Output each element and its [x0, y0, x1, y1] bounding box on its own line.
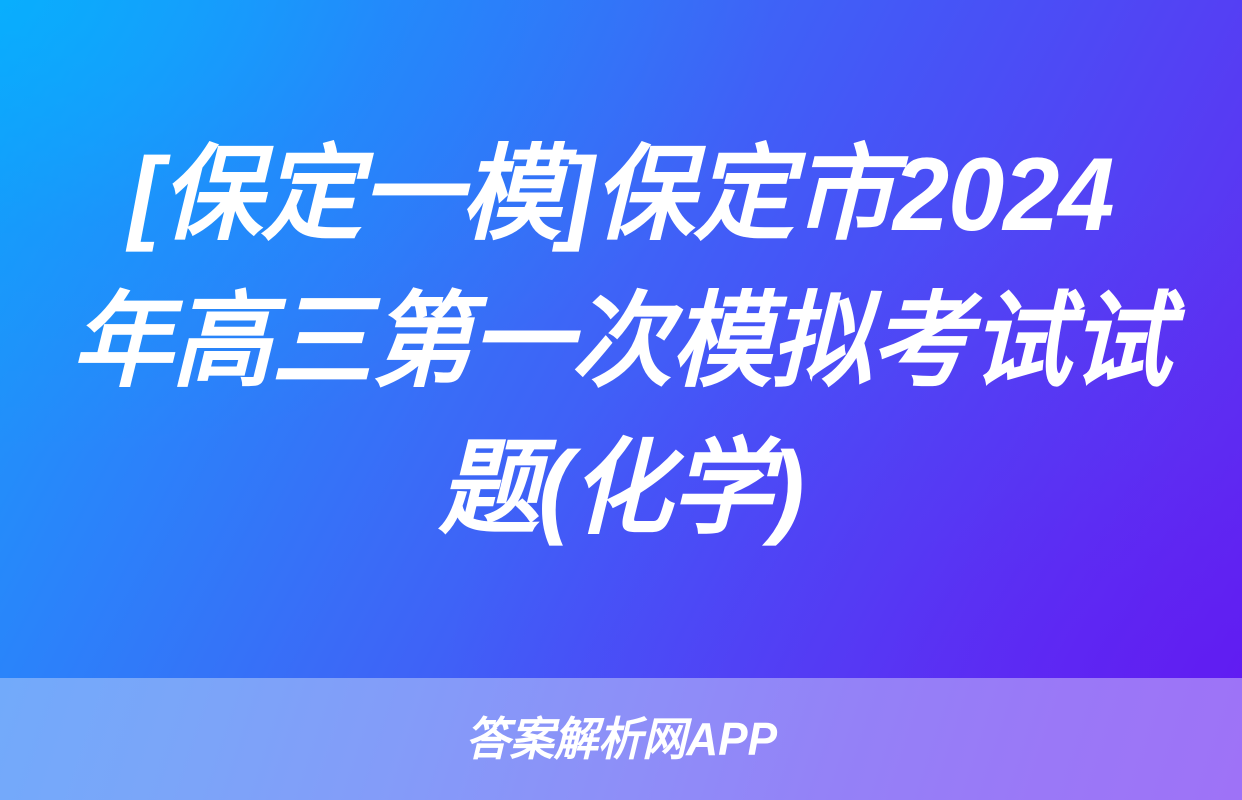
exam-title: [保定一模]保定市2024 年高三第一次模拟考试试 题(化学): [41, 116, 1201, 563]
hero-gradient-panel: [保定一模]保定市2024 年高三第一次模拟考试试 题(化学): [0, 0, 1242, 678]
exam-title-line-1: [保定一模]保定市2024: [58, 122, 1183, 269]
exam-cover-card: [保定一模]保定市2024 年高三第一次模拟考试试 题(化学) 答案解析网APP: [0, 0, 1242, 800]
exam-title-line-3: 题(化学): [58, 416, 1183, 563]
app-watermark-banner: 答案解析网APP: [0, 678, 1242, 800]
exam-title-line-2: 年高三第一次模拟考试试: [58, 269, 1183, 416]
app-watermark-label: 答案解析网APP: [465, 716, 777, 762]
